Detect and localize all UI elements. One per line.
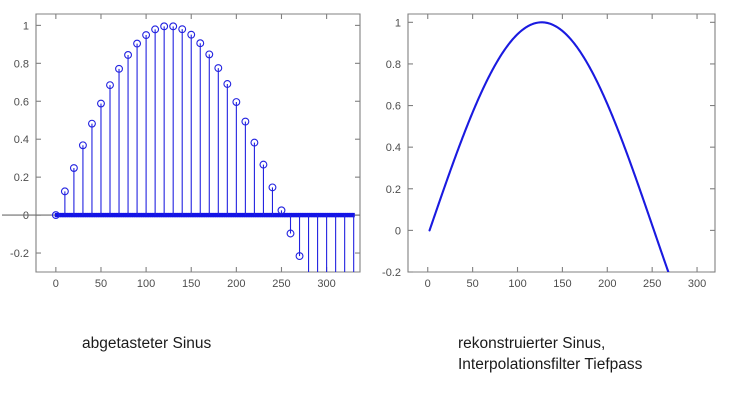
chart-sampled-sine: 050100150200250300-0.200.20.40.60.81 <box>0 0 380 300</box>
chart-reconstructed-sine: 050100150200250300-0.200.20.40.60.81 <box>380 0 752 300</box>
y-tick-label: -0.2 <box>382 267 401 279</box>
x-tick-label: 0 <box>53 278 59 290</box>
stem-series <box>52 23 354 300</box>
x-tick-label: 250 <box>643 278 661 290</box>
caption-left: abgetasteter Sinus <box>82 333 211 354</box>
y-tick-label: 0.8 <box>14 58 29 70</box>
x-tick-label: 150 <box>182 278 200 290</box>
x-tick-label: 150 <box>553 278 571 290</box>
y-tick-label: 1 <box>395 17 401 29</box>
x-tick-label: 100 <box>137 278 155 290</box>
x-tick-label: 0 <box>425 278 431 290</box>
y-tick-label: 0 <box>395 225 401 237</box>
sine-curve <box>430 22 671 279</box>
x-tick-label: 50 <box>467 278 479 290</box>
y-tick-label: 0.6 <box>14 96 29 108</box>
stem-marker <box>305 274 312 281</box>
x-tick-label: 300 <box>688 278 706 290</box>
x-tick-label: 200 <box>227 278 245 290</box>
y-tick-label: 0 <box>23 210 29 222</box>
y-tick-label: -0.2 <box>10 248 29 260</box>
caption-right: rekonstruierter Sinus, Interpolationsfil… <box>458 333 642 376</box>
y-tick-label: 0.2 <box>386 184 401 196</box>
x-tick-label: 50 <box>95 278 107 290</box>
y-tick-label: 0.4 <box>386 142 401 154</box>
y-tick-label: 0.8 <box>386 59 401 71</box>
y-tick-label: 0.4 <box>14 134 29 146</box>
sampled-sine-svg: 050100150200250300-0.200.20.40.60.81 <box>0 0 380 300</box>
y-tick-label: 0.6 <box>386 101 401 113</box>
x-tick-label: 250 <box>272 278 290 290</box>
y-tick-label: 0.2 <box>14 172 29 184</box>
axis-frame <box>36 14 360 272</box>
axis-frame <box>408 14 715 272</box>
reconstructed-sine-svg: 050100150200250300-0.200.20.40.60.81 <box>380 0 752 300</box>
x-tick-label: 300 <box>317 278 335 290</box>
x-tick-label: 100 <box>508 278 526 290</box>
x-tick-label: 200 <box>598 278 616 290</box>
y-tick-label: 1 <box>23 20 29 32</box>
